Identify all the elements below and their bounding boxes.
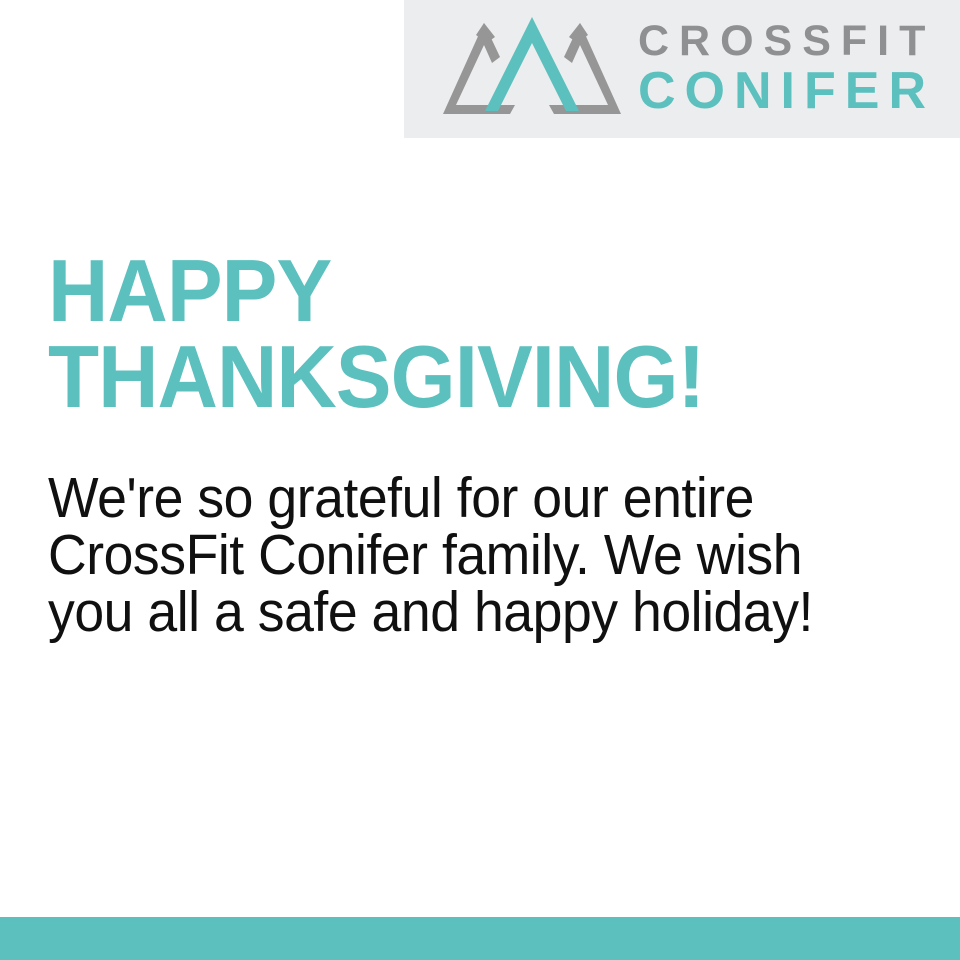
brand-logo-lockup: CROSSFIT CONIFER — [404, 17, 935, 121]
mountain-peaks-icon — [440, 17, 624, 121]
page-body-copy: We're so grateful for our entire CrossFi… — [48, 470, 875, 641]
poster-canvas: CROSSFIT CONIFER HAPPY THANKSGIVING! We'… — [0, 0, 960, 960]
body-line-2: CrossFit Conifer family. We wish — [48, 527, 875, 584]
logo-header-band: CROSSFIT CONIFER — [404, 0, 960, 138]
footer-accent-bar — [0, 917, 960, 960]
headline-line-2: THANKSGIVING! — [48, 334, 865, 420]
page-headline: HAPPY THANKSGIVING! — [48, 248, 865, 420]
headline-line-1: HAPPY — [48, 248, 865, 334]
brand-name-crossfit: CROSSFIT — [638, 20, 935, 64]
body-line-3: you all a safe and happy holiday! — [48, 584, 875, 641]
brand-name-conifer: CONIFER — [638, 65, 935, 118]
brand-wordmark: CROSSFIT CONIFER — [638, 20, 935, 119]
body-line-1: We're so grateful for our entire — [48, 470, 875, 527]
